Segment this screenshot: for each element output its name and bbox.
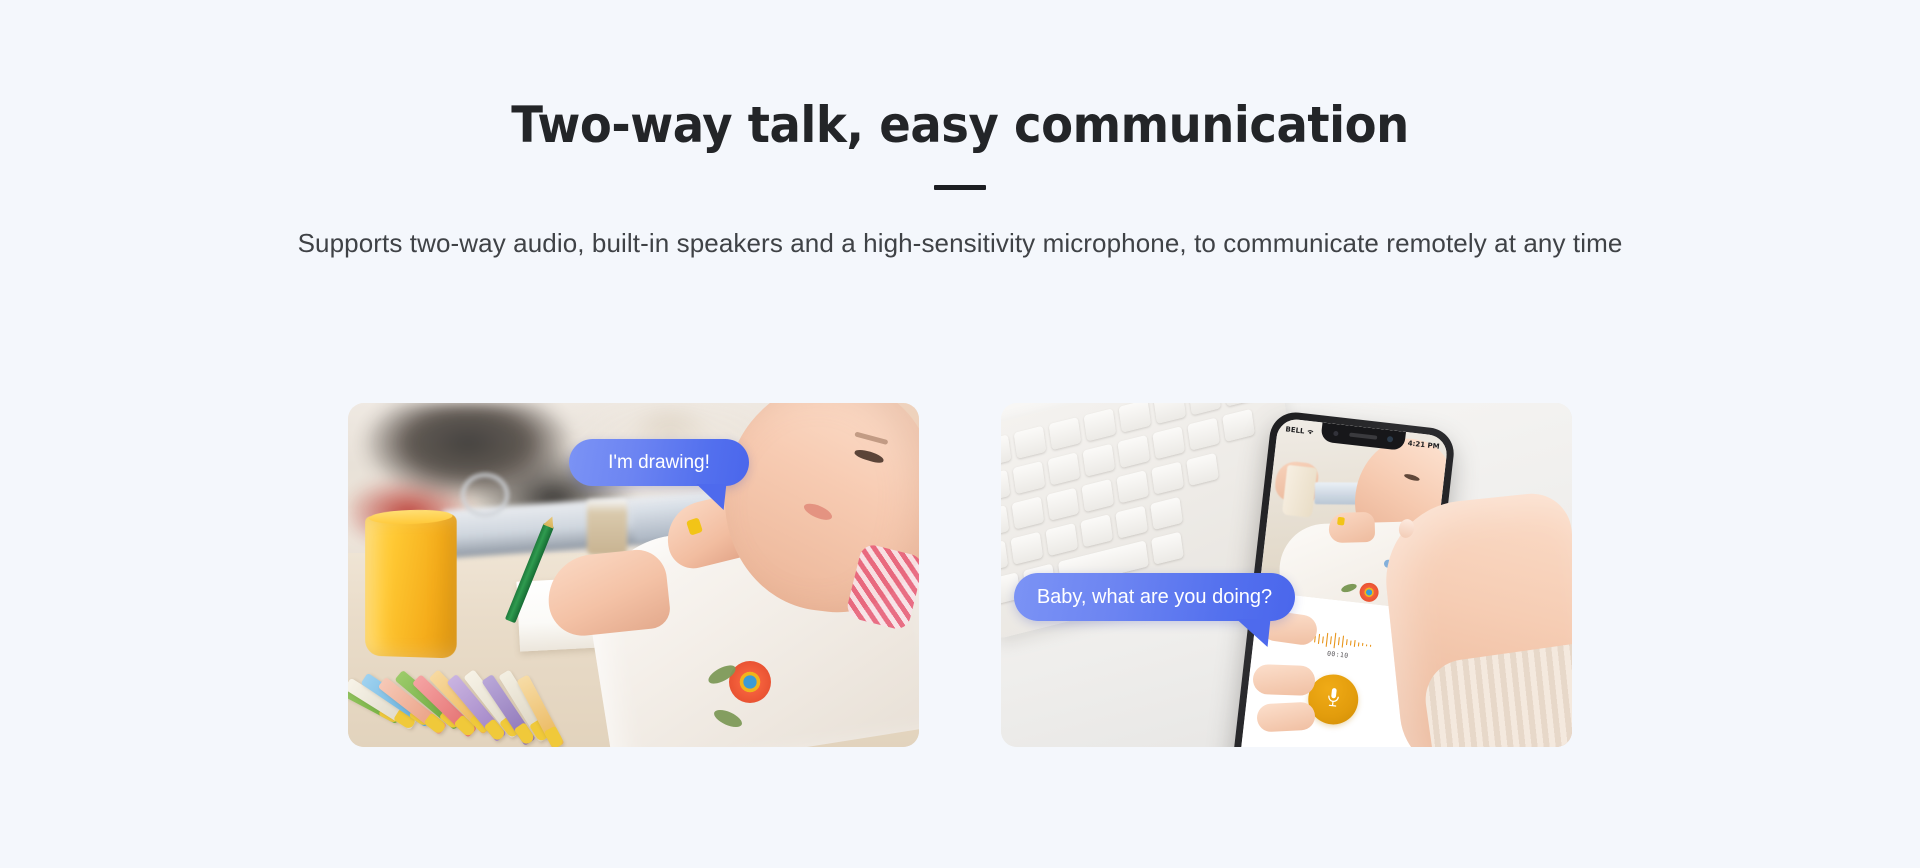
section-subtitle: Supports two-way audio, built-in speaker… (0, 226, 1920, 261)
status-bar-carrier-group: BELL (1285, 425, 1315, 436)
ring-binder-icon (461, 473, 509, 517)
glass-blurred (587, 499, 627, 555)
title-divider-wrap (0, 185, 1920, 190)
feed-marker-cap (1337, 517, 1345, 526)
media-card-phone: BELL 4:21 PM (1001, 403, 1572, 747)
section-header: Two-way talk, easy communication Support… (0, 96, 1920, 261)
page-title: Two-way talk, easy communication (67, 96, 1853, 155)
speech-bubble-parent: Baby, what are you doing? (1014, 573, 1295, 621)
feed-child-hand-2 (1328, 512, 1375, 543)
carrier-label: BELL (1285, 425, 1305, 435)
wifi-icon (1306, 428, 1315, 436)
status-bar-time: 4:21 PM (1407, 439, 1440, 451)
media-row: I'm drawing! (348, 403, 1572, 747)
yellow-cup (365, 514, 457, 659)
media-card-child: I'm drawing! (348, 403, 919, 747)
child-eye (854, 447, 885, 464)
speech-bubble-parent-text: Baby, what are you doing? (1037, 586, 1272, 609)
microphone-icon (1323, 685, 1342, 714)
two-way-talk-section: Two-way talk, easy communication Support… (0, 0, 1920, 868)
marker-pens-group (354, 639, 564, 731)
finger (1256, 702, 1315, 733)
child-lips (802, 500, 834, 523)
feed-glass (1282, 465, 1317, 518)
speech-bubble-child-text: I'm drawing! (608, 452, 710, 474)
child-eyebrow (854, 431, 888, 445)
recording-timer: 00:10 (1327, 649, 1349, 659)
speech-bubble-child: I'm drawing! (569, 439, 749, 486)
title-divider (934, 185, 986, 190)
finger (1252, 664, 1315, 696)
